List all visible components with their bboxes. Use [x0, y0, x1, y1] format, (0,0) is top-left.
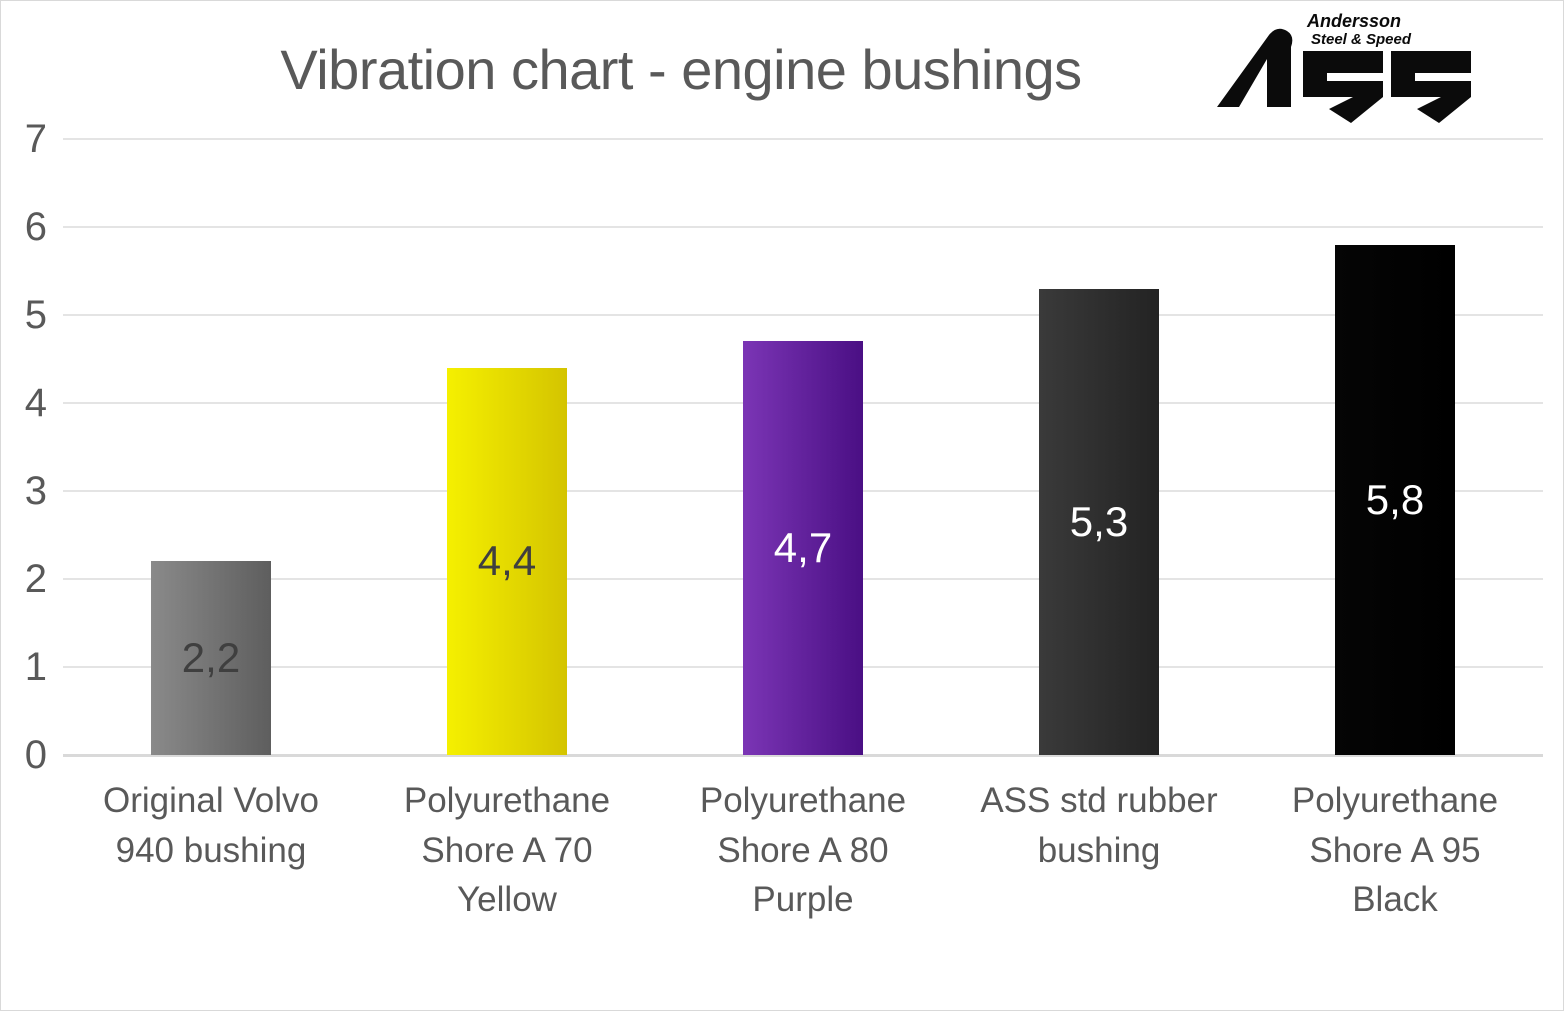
bar-slot: 5,8	[1247, 139, 1543, 755]
y-axis-tick-label: 1	[1, 647, 47, 687]
bar-slot: 2,2	[63, 139, 359, 755]
category-label-line: ASS std rubber	[957, 776, 1241, 826]
category-label-line: Original Volvo	[69, 776, 353, 826]
brand-logo: Andersson Steel & Speed	[1211, 11, 1511, 131]
chart-container: Vibration chart - engine bushings Anders…	[0, 0, 1564, 1011]
category-label-line: Polyurethane	[661, 776, 945, 826]
bar-slot: 5,3	[951, 139, 1247, 755]
bar[interactable]: 4,4	[447, 368, 567, 755]
x-axis-category-label: PolyurethaneShore A 95Black	[1247, 776, 1543, 925]
x-axis-category-labels: Original Volvo940 bushingPolyurethaneSho…	[63, 776, 1543, 925]
category-label-line: Polyurethane	[365, 776, 649, 826]
y-axis-tick-label: 2	[1, 559, 47, 599]
y-axis-tick-label: 4	[1, 383, 47, 423]
bar-series: 2,24,44,75,35,8	[63, 139, 1543, 755]
y-axis-tick-label: 7	[1, 119, 47, 159]
plot-area: 01234567 2,24,44,75,35,8	[63, 139, 1543, 755]
x-axis-category-label: PolyurethaneShore A 80Purple	[655, 776, 951, 925]
y-axis-tick-label: 3	[1, 471, 47, 511]
category-label-line: Shore A 95	[1253, 826, 1537, 876]
bar-slot: 4,7	[655, 139, 951, 755]
andersson-steel-and-speed-logo-icon: Andersson Steel & Speed	[1211, 11, 1511, 131]
x-axis-category-label: Original Volvo940 bushing	[63, 776, 359, 925]
logo-brand-line1: Andersson	[1306, 11, 1401, 31]
category-label-line: Purple	[661, 875, 945, 925]
bar[interactable]: 5,3	[1039, 289, 1159, 755]
category-label-line: Yellow	[365, 875, 649, 925]
bar-value-label: 5,8	[1335, 479, 1455, 521]
bar[interactable]: 2,2	[151, 561, 271, 755]
x-axis-category-label: PolyurethaneShore A 70Yellow	[359, 776, 655, 925]
category-label-line: 940 bushing	[69, 826, 353, 876]
category-label-line: Black	[1253, 875, 1537, 925]
x-axis-category-label: ASS std rubberbushing	[951, 776, 1247, 925]
bar-slot: 4,4	[359, 139, 655, 755]
bar-value-label: 2,2	[151, 637, 271, 679]
bar-value-label: 4,7	[743, 527, 863, 569]
y-axis-tick-label: 5	[1, 295, 47, 335]
y-axis-tick-label: 0	[1, 735, 47, 775]
bar[interactable]: 5,8	[1335, 245, 1455, 755]
chart-title: Vibration chart - engine bushings	[1, 37, 1361, 102]
bar[interactable]: 4,7	[743, 341, 863, 755]
bar-value-label: 5,3	[1039, 501, 1159, 543]
logo-brand-line2: Steel & Speed	[1311, 31, 1412, 48]
category-label-line: Shore A 70	[365, 826, 649, 876]
category-label-line: bushing	[957, 826, 1241, 876]
bar-value-label: 4,4	[447, 540, 567, 582]
category-label-line: Polyurethane	[1253, 776, 1537, 826]
y-axis-tick-label: 6	[1, 207, 47, 247]
category-label-line: Shore A 80	[661, 826, 945, 876]
